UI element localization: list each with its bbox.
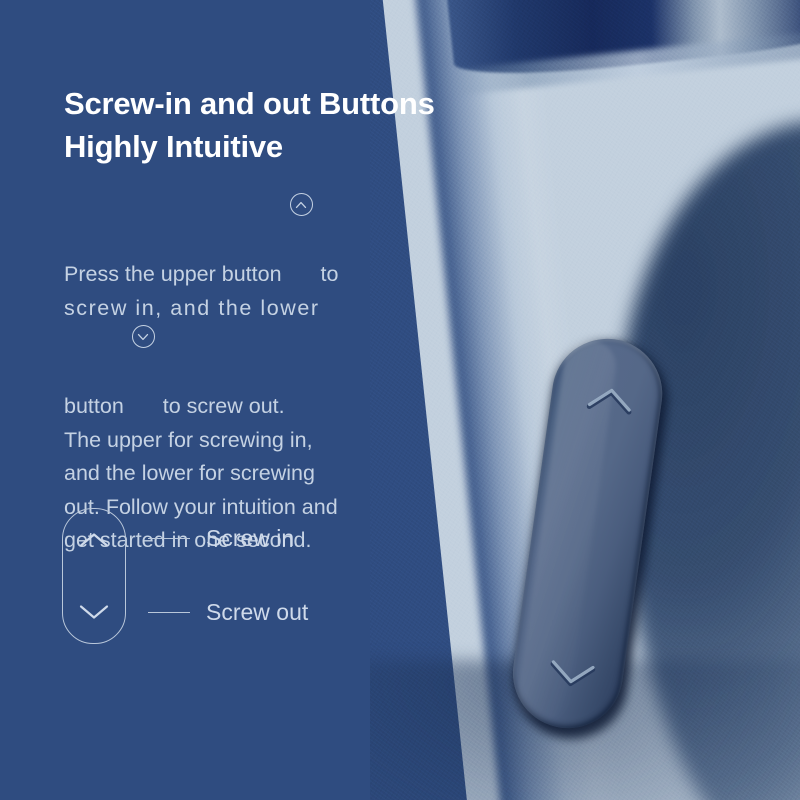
paragraph-1: Press the upper button to screw in, and …	[64, 193, 444, 424]
paragraph-1-line-3: button to screw out.	[64, 325, 444, 424]
body-copy: Press the upper button to screw in, and …	[64, 193, 444, 558]
product-feature-slide: Screw-in and out Buttons Highly Intuitiv…	[0, 0, 800, 800]
paragraph-1-text-before-down-icon: button	[64, 394, 130, 418]
legend-connector-line	[148, 612, 190, 613]
legend-connector-line	[148, 538, 190, 539]
legend-row-screw-out: Screw out	[148, 601, 308, 624]
paragraph-2-line-2: and the lower for screwing	[64, 457, 444, 491]
chevron-up-icon	[78, 531, 110, 549]
paragraph-1-line-2: screw in, and the lower	[64, 292, 444, 326]
paragraph-2-line-1: The upper for screwing in,	[64, 424, 444, 458]
headline-line-1: Screw-in and out Buttons	[64, 82, 464, 125]
chevron-down-circle-icon	[132, 325, 155, 348]
legend-label-screw-out: Screw out	[206, 601, 308, 624]
legend-row-screw-in: Screw in	[148, 527, 294, 550]
legend-rocker-outline	[62, 508, 126, 644]
legend-label-screw-in: Screw in	[206, 527, 294, 550]
page-title: Screw-in and out Buttons Highly Intuitiv…	[64, 82, 464, 168]
content-column: Screw-in and out Buttons Highly Intuitiv…	[0, 0, 470, 800]
paragraph-1-line-1: Press the upper button to	[64, 193, 444, 292]
paragraph-1-text-before-up-icon: Press the upper button	[64, 262, 288, 286]
button-legend: Screw in Screw out	[62, 508, 462, 648]
headline-line-2: Highly Intuitive	[64, 125, 464, 168]
chevron-down-icon	[78, 603, 110, 621]
chevron-up-circle-icon	[290, 193, 313, 216]
